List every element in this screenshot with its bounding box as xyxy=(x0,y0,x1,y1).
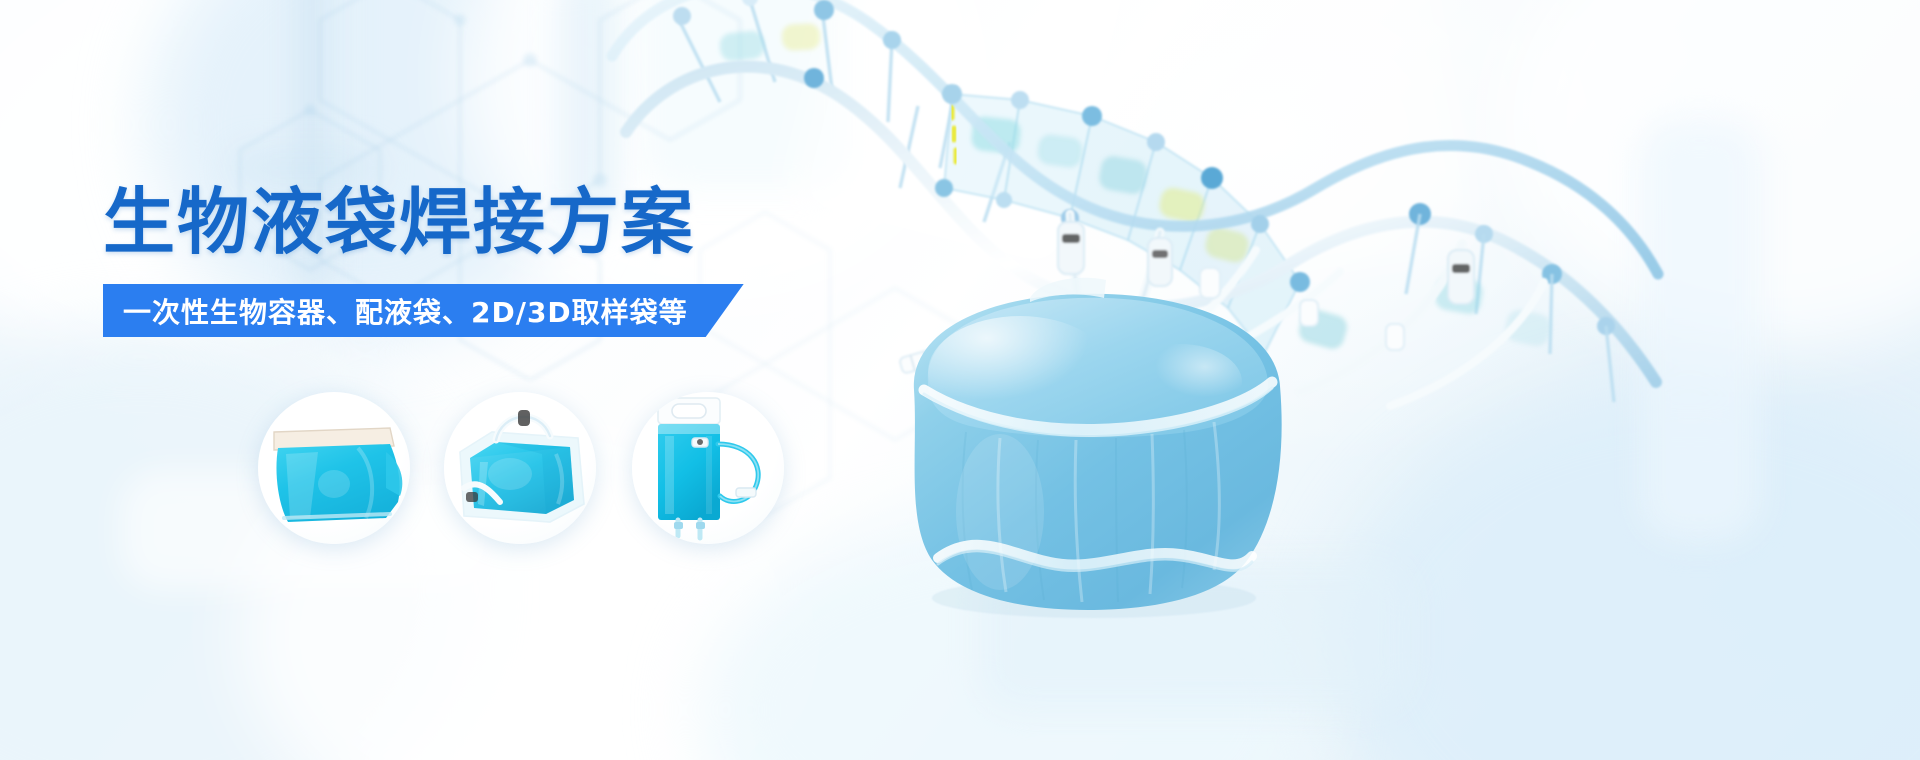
banner-root: 生物液袋焊接方案 一次性生物容器、配液袋、2D/3D取样袋等 xyxy=(0,0,1920,760)
product-circle-3d-bag[interactable] xyxy=(444,392,596,544)
subtitle-ribbon: 一次性生物容器、配液袋、2D/3D取样袋等 xyxy=(103,284,744,337)
hero-bioprocess-bag xyxy=(880,262,1310,612)
subtitle-text: 一次性生物容器、配液袋、2D/3D取样袋等 xyxy=(123,291,688,331)
product-circle-2d-bag[interactable] xyxy=(258,392,410,544)
product-image-2d-bag xyxy=(258,392,410,544)
page-title: 生物液袋焊接方案 xyxy=(103,186,695,258)
product-image-sampling-bag xyxy=(632,392,784,544)
product-image-3d-bag xyxy=(444,392,596,544)
product-circle-sampling-bag[interactable] xyxy=(632,392,784,544)
